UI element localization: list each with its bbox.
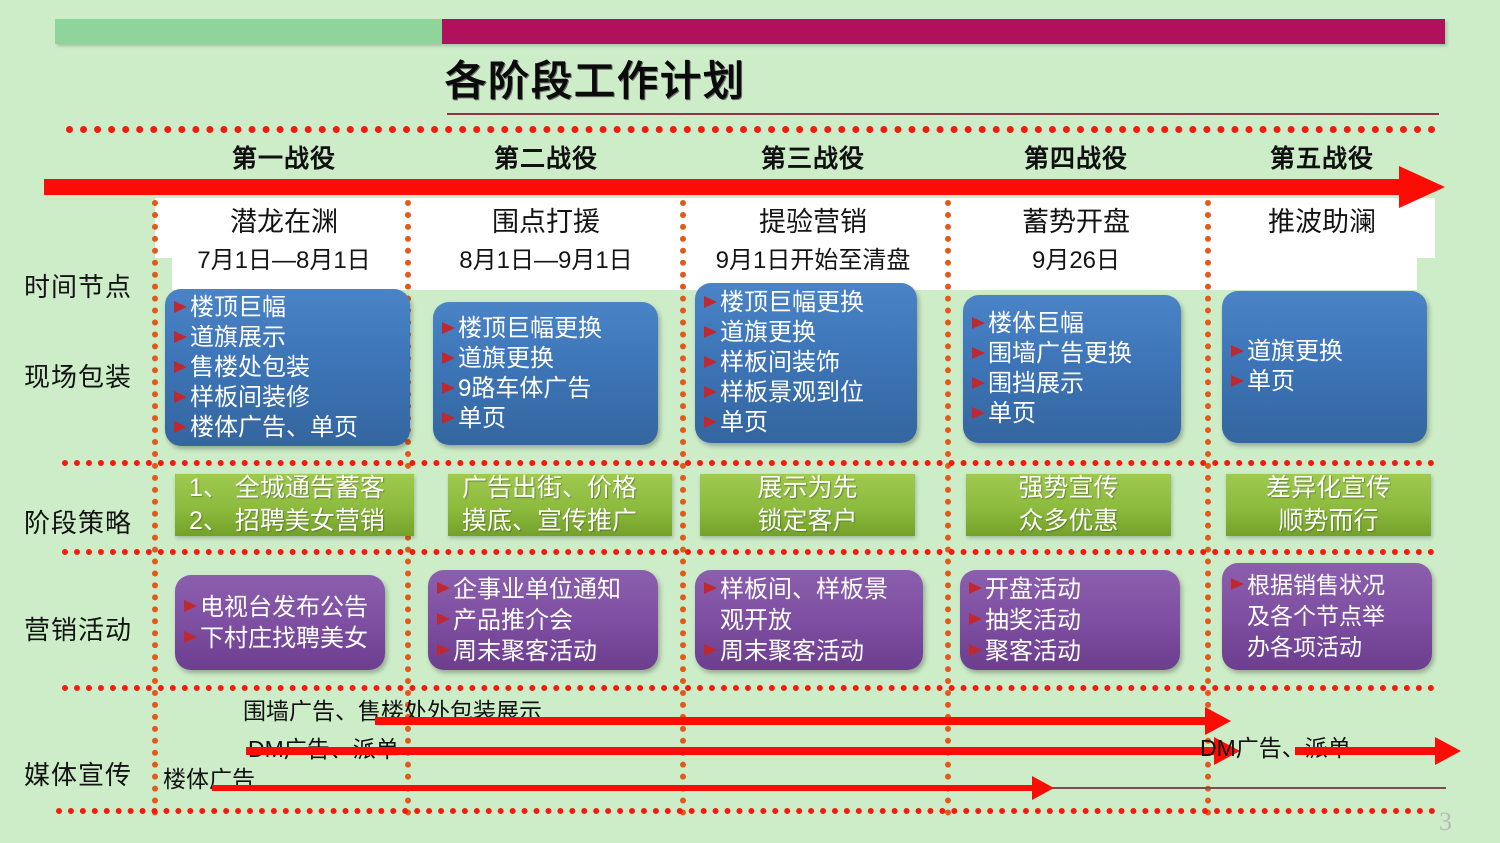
list-item-label: 楼体广告、单页: [190, 413, 358, 443]
media-arrow-bar: [212, 785, 1038, 791]
list-item-label: 抽奖活动: [985, 605, 1081, 636]
list-item-label: 电视台发布公告: [200, 592, 368, 623]
list-item: 售楼处包装: [173, 353, 400, 383]
row-label-time-node: 时间节点: [8, 267, 148, 304]
arrow-bullet-icon: [441, 404, 457, 432]
strategy-line: 展示为先: [757, 472, 857, 505]
arrow-bullet-icon: [703, 348, 719, 376]
list-item: 围挡展示: [971, 369, 1171, 399]
arrow-bullet-icon: [703, 288, 719, 316]
row-label-marketing-activity: 营销活动: [8, 610, 148, 647]
arrow-bullet-icon: [968, 636, 984, 664]
list-item: 周末聚客活动: [703, 636, 915, 667]
media-arrow-dm-right: [1295, 744, 1467, 758]
list-item-label: 围挡展示: [988, 369, 1084, 399]
strategy-line: 1、 全城通告蓄客: [189, 472, 385, 505]
list-item-label: 楼体巨幅: [988, 309, 1084, 339]
row-label-site-packaging: 现场包装: [8, 357, 148, 394]
arrow-bullet-icon: [703, 378, 719, 406]
arrow-bullet-icon: [173, 383, 189, 411]
activity-box-phase-4[interactable]: 开盘活动 抽奖活动 聚客活动: [960, 570, 1180, 670]
arrow-bullet-icon: [1230, 601, 1246, 629]
phase-battle-label-5: 第五战役: [1208, 139, 1436, 175]
packaging-box-phase-4[interactable]: 楼体巨幅 围墙广告更换 围挡展示 单页: [963, 295, 1181, 443]
arrow-bullet-icon: [436, 574, 452, 602]
arrow-bullet-icon: [183, 623, 199, 651]
strategy-box-phase-5[interactable]: 差异化宣传 顺势而行: [1226, 474, 1431, 536]
list-item-label: 道旗更换: [458, 344, 554, 374]
strategy-box-phase-1[interactable]: 1、 全城通告蓄客 2、 招聘美女营销: [175, 474, 414, 536]
phase-name-1: 潜龙在渊: [160, 200, 408, 239]
list-item-label: 道旗更换: [720, 318, 816, 348]
list-item: 办各项活动: [1230, 632, 1424, 663]
phase-name-4: 蓄势开盘: [948, 200, 1204, 239]
list-item: 楼体广告、单页: [173, 413, 400, 443]
arrow-bullet-icon: [183, 592, 199, 620]
phase-name-2: 围点打援: [412, 200, 680, 239]
list-item-label: 围墙广告更换: [988, 339, 1132, 369]
list-item-label: 单页: [1247, 367, 1295, 397]
list-item-label: 根据销售状况: [1247, 570, 1385, 601]
timeline-arrow-bar: [44, 179, 1405, 195]
list-item: 道旗更换: [1230, 337, 1417, 367]
arrow-bullet-icon: [173, 413, 189, 441]
list-item: 产品推介会: [436, 605, 650, 636]
strategy-line: 2、 招聘美女营销: [189, 505, 385, 538]
list-item-label: 企事业单位通知: [453, 574, 621, 605]
slide-canvas: 各阶段工作计划 时间节点 现场包装 阶段策略 营销活动 媒体宣传 第一战役 第二…: [0, 0, 1500, 843]
strategy-box-phase-4[interactable]: 强势宣传 众多优惠: [966, 474, 1171, 536]
arrow-bullet-icon: [703, 408, 719, 436]
list-item: 单页: [703, 408, 907, 438]
phase-battle-label-1: 第一战役: [160, 139, 408, 175]
list-item: 观开放: [703, 605, 915, 636]
list-item: 样板间、样板景: [703, 574, 915, 605]
list-item-label: 样板间装修: [190, 383, 310, 413]
list-item-label: 样板景观到位: [720, 378, 864, 408]
strategy-line: 强势宣传: [1018, 472, 1118, 505]
phase-date-4: 9月26日: [948, 240, 1204, 275]
strategy-line: 广告出街、价格: [462, 472, 637, 505]
arrow-bullet-icon: [436, 605, 452, 633]
phase-battle-label-2: 第二战役: [412, 139, 680, 175]
list-item: 9路车体广告: [441, 374, 648, 404]
row-divider-packaging-strategy: [62, 460, 1435, 466]
list-item-label: 样板间、样板景: [720, 574, 888, 605]
header-accent-bar-green: [55, 19, 442, 44]
list-item: 企事业单位通知: [436, 574, 650, 605]
arrow-bullet-icon: [173, 323, 189, 351]
strategy-line: 顺势而行: [1278, 505, 1378, 538]
arrow-bullet-icon: [703, 605, 719, 633]
row-label-media-promotion: 媒体宣传: [8, 755, 148, 792]
list-item: 周末聚客活动: [436, 636, 650, 667]
strategy-line: 众多优惠: [1018, 505, 1118, 538]
list-item-label: 道旗展示: [190, 323, 286, 353]
list-item: 道旗展示: [173, 323, 400, 353]
arrow-bullet-icon: [1230, 367, 1246, 395]
media-arrow-bar: [1295, 747, 1441, 755]
activity-box-phase-2[interactable]: 企事业单位通知 产品推介会 周末聚客活动: [428, 570, 658, 670]
arrow-bullet-icon: [441, 314, 457, 342]
list-item: 单页: [1230, 367, 1417, 397]
header-accent-bar-magenta: [442, 19, 1445, 44]
list-item-label: 观开放: [720, 605, 792, 636]
phase-date-3: 9月1日开始至清盘: [682, 240, 944, 275]
list-item: 楼顶巨幅更换: [703, 288, 907, 318]
list-item: 聚客活动: [968, 636, 1172, 667]
arrow-bullet-icon: [173, 293, 189, 321]
list-item: 楼顶巨幅更换: [441, 314, 648, 344]
list-item-label: 周末聚客活动: [453, 636, 597, 667]
packaging-box-phase-1[interactable]: 楼顶巨幅 道旗展示 售楼处包装 样板间装修 楼体广告、单页: [165, 289, 410, 446]
activity-box-phase-5[interactable]: 根据销售状况 及各个节点举 办各项活动: [1222, 563, 1432, 670]
list-item: 道旗更换: [703, 318, 907, 348]
media-arrow-dm-left: [246, 744, 1246, 758]
list-item-label: 单页: [988, 399, 1036, 429]
list-item: 样板景观到位: [703, 378, 907, 408]
arrow-bullet-icon: [971, 309, 987, 337]
list-item: 抽奖活动: [968, 605, 1172, 636]
list-item: 开盘活动: [968, 574, 1172, 605]
column-divider-0: [152, 200, 158, 816]
arrow-bullet-icon: [971, 399, 987, 427]
row-divider-strategy-activity: [62, 549, 1435, 555]
strategy-box-phase-2[interactable]: 广告出街、价格 摸底、宣传推广: [448, 474, 672, 536]
title-underline: [447, 113, 1439, 115]
list-item: 样板间装修: [173, 383, 400, 413]
list-item: 道旗更换: [441, 344, 648, 374]
media-arrow-head: [1032, 776, 1054, 800]
arrow-bullet-icon: [968, 605, 984, 633]
list-item: 楼顶巨幅: [173, 293, 400, 323]
grid-divider-top: [66, 126, 1436, 133]
media-arrow-head: [1435, 737, 1461, 765]
list-item-label: 9路车体广告: [458, 374, 591, 404]
list-item: 单页: [441, 404, 648, 434]
list-item: 围墙广告更换: [971, 339, 1171, 369]
arrow-bullet-icon: [1230, 570, 1246, 598]
arrow-bullet-icon: [1230, 337, 1246, 365]
list-item: 下村庄找聘美女: [183, 623, 377, 654]
timeline-arrow: [44, 176, 1444, 198]
media-arrow-wall-ads: [375, 714, 1237, 728]
arrow-bullet-icon: [441, 374, 457, 402]
list-item: 单页: [971, 399, 1171, 429]
phase-battle-label-3: 第三战役: [682, 139, 944, 175]
row-divider-activity-media: [62, 685, 1435, 691]
packaging-box-phase-5[interactable]: 道旗更换 单页: [1222, 291, 1427, 443]
list-item: 楼体巨幅: [971, 309, 1171, 339]
page-title: 各阶段工作计划: [445, 55, 1045, 107]
arrow-bullet-icon: [971, 339, 987, 367]
arrow-bullet-icon: [703, 574, 719, 602]
strategy-box-phase-3[interactable]: 展示为先 锁定客户: [700, 474, 915, 536]
page-number: 3: [1439, 807, 1452, 837]
media-arrow-building-ads: [212, 781, 1074, 795]
arrow-bullet-icon: [703, 318, 719, 346]
activity-box-phase-1[interactable]: 电视台发布公告 下村庄找聘美女: [175, 575, 385, 670]
list-item-label: 聚客活动: [985, 636, 1081, 667]
phase-name-3: 提验营销: [682, 200, 944, 239]
arrow-bullet-icon: [441, 344, 457, 372]
list-item-label: 楼顶巨幅更换: [720, 288, 864, 318]
phase-name-5: 推波助澜: [1208, 200, 1436, 239]
list-item-label: 开盘活动: [985, 574, 1081, 605]
list-item-label: 楼顶巨幅: [190, 293, 286, 323]
arrow-bullet-icon: [971, 369, 987, 397]
list-item-label: 单页: [720, 408, 768, 438]
strategy-line: 摸底、宣传推广: [462, 505, 637, 538]
list-item-label: 及各个节点举: [1247, 601, 1385, 632]
packaging-box-phase-2[interactable]: 楼顶巨幅更换 道旗更换 9路车体广告 单页: [433, 302, 658, 445]
list-item-label: 下村庄找聘美女: [200, 623, 368, 654]
arrow-bullet-icon: [703, 636, 719, 664]
packaging-box-phase-3[interactable]: 楼顶巨幅更换 道旗更换 样板间装饰 样板景观到位 单页: [695, 283, 917, 443]
media-arrow-bar: [375, 717, 1211, 725]
phase-battle-label-4: 第四战役: [948, 139, 1204, 175]
phase-date-1: 7月1日—8月1日: [160, 240, 408, 275]
list-item-label: 单页: [458, 404, 506, 434]
media-arrow-bar: [246, 747, 1220, 755]
list-item-label: 道旗更换: [1247, 337, 1343, 367]
row-label-stage-strategy: 阶段策略: [8, 503, 148, 540]
activity-box-phase-3[interactable]: 样板间、样板景 观开放 周末聚客活动: [695, 570, 923, 670]
list-item-label: 售楼处包装: [190, 353, 310, 383]
list-item: 根据销售状况: [1230, 570, 1424, 601]
list-item-label: 样板间装饰: [720, 348, 840, 378]
phase-date-2: 8月1日—9月1日: [412, 240, 680, 275]
list-item-label: 产品推介会: [453, 605, 573, 636]
arrow-bullet-icon: [173, 353, 189, 381]
grid-divider-bottom: [56, 808, 1436, 814]
arrow-bullet-icon: [436, 636, 452, 664]
list-item-label: 楼顶巨幅更换: [458, 314, 602, 344]
arrow-bullet-icon: [1230, 632, 1246, 660]
strategy-line: 差异化宣传: [1266, 472, 1391, 505]
strategy-line: 锁定客户: [757, 505, 857, 538]
list-item: 样板间装饰: [703, 348, 907, 378]
list-item: 及各个节点举: [1230, 601, 1424, 632]
list-item-label: 周末聚客活动: [720, 636, 864, 667]
list-item: 电视台发布公告: [183, 592, 377, 623]
list-item-label: 办各项活动: [1247, 632, 1362, 663]
arrow-bullet-icon: [968, 574, 984, 602]
